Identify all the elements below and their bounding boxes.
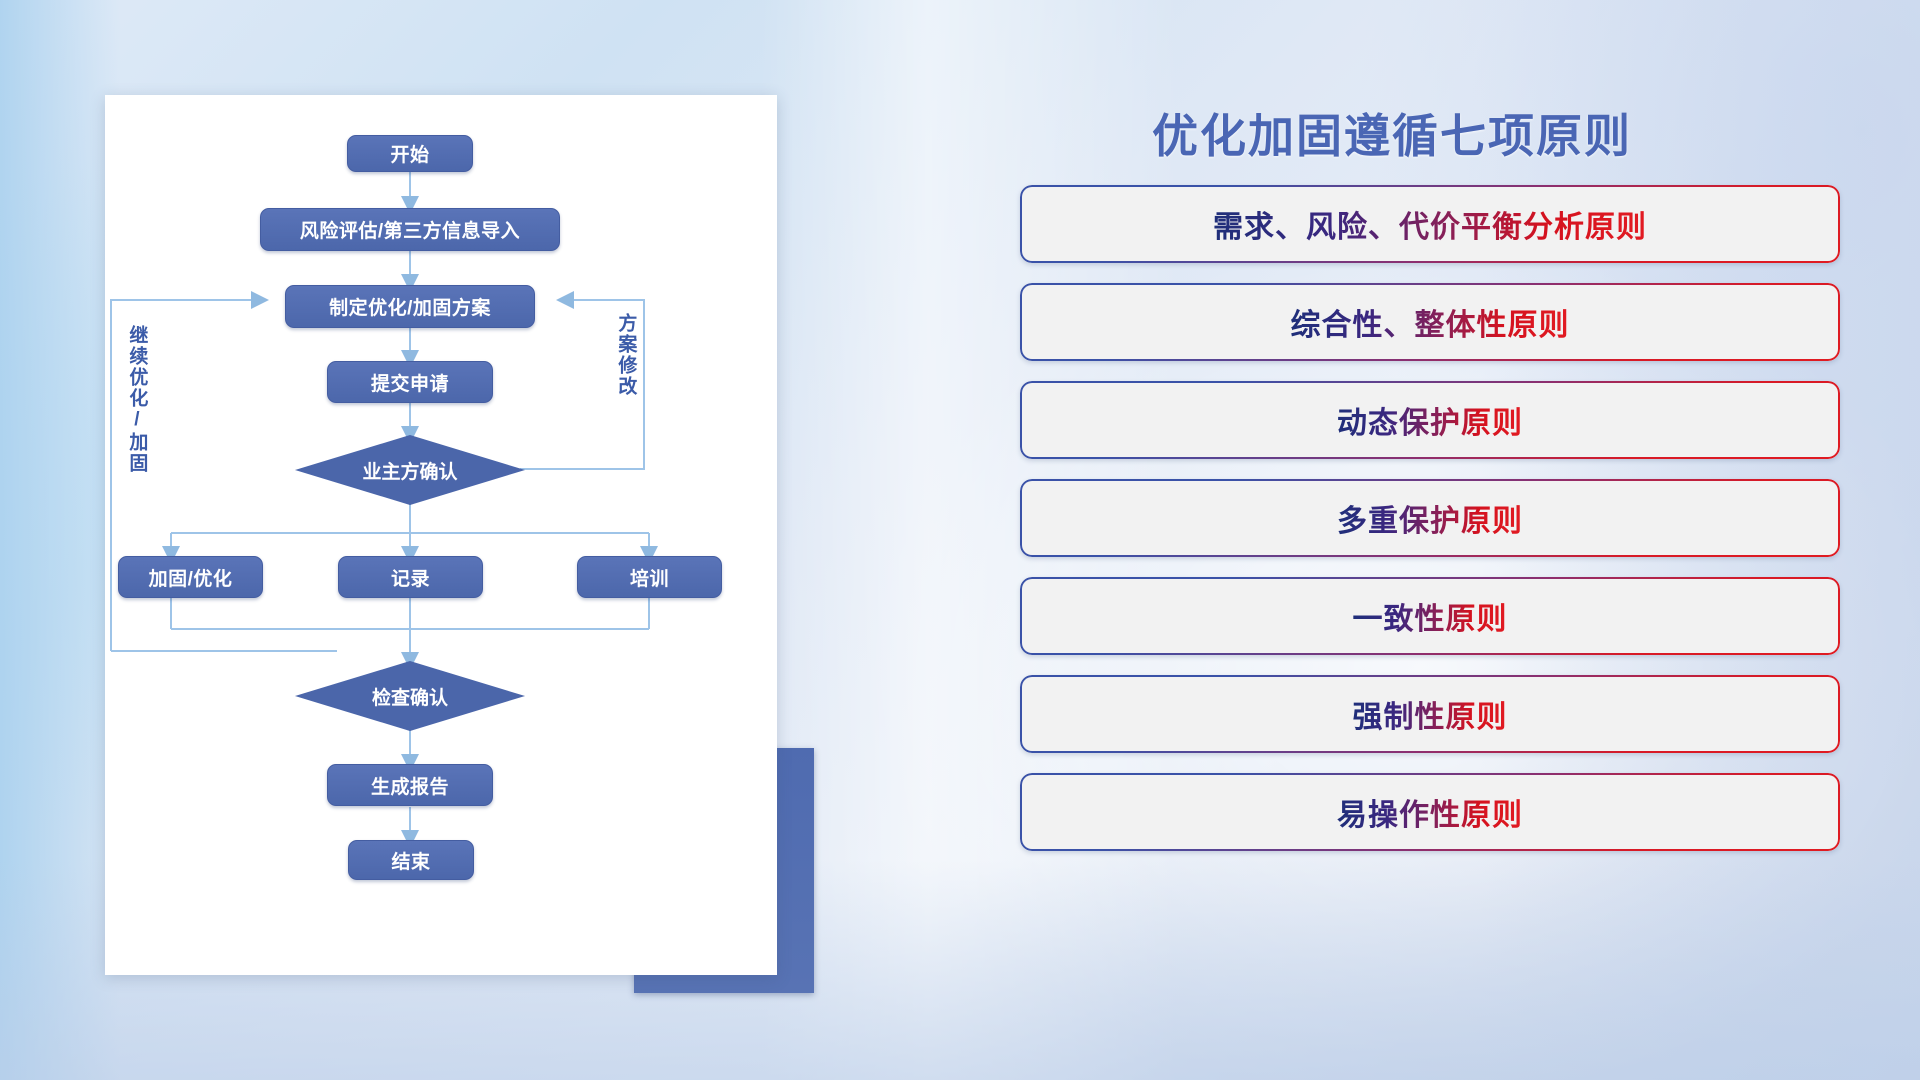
flow-node-label: 培训 bbox=[630, 564, 669, 591]
principle-item[interactable]: 动态保护原则 bbox=[1020, 381, 1840, 459]
flowchart-card: 开始 风险评估/第三方信息导入 制定优化/加固方案 提交申请 业主方确认 加固/… bbox=[105, 95, 777, 975]
principle-label: 强制性原则 bbox=[1353, 692, 1508, 736]
principle-item[interactable]: 多重保护原则 bbox=[1020, 479, 1840, 557]
page-title: 优化加固遵循七项原则 bbox=[1152, 100, 1632, 166]
flow-edge-label-plan-revision: 方案修改 bbox=[616, 313, 635, 397]
flow-edge-label-continue-optimize: 继续优化/加固 bbox=[127, 325, 146, 474]
flow-node-label: 风险评估/第三方信息导入 bbox=[300, 216, 520, 243]
flow-node-label: 加固/优化 bbox=[149, 564, 233, 591]
principle-item[interactable]: 需求、风险、代价平衡分析原则 bbox=[1020, 185, 1840, 263]
flow-node-training[interactable]: 培训 bbox=[577, 556, 722, 598]
principle-list: 需求、风险、代价平衡分析原则 综合性、整体性原则 动态保护原则 多重保护原则 一… bbox=[1020, 185, 1840, 871]
flow-node-label: 业主方确认 bbox=[362, 457, 457, 484]
flow-node-risk-assessment[interactable]: 风险评估/第三方信息导入 bbox=[260, 208, 560, 251]
flow-node-label: 制定优化/加固方案 bbox=[329, 293, 491, 320]
flow-node-record[interactable]: 记录 bbox=[338, 556, 483, 598]
flow-node-end[interactable]: 结束 bbox=[348, 840, 474, 880]
principle-item[interactable]: 易操作性原则 bbox=[1020, 773, 1840, 851]
principle-label: 一致性原则 bbox=[1353, 594, 1508, 638]
principle-label: 动态保护原则 bbox=[1337, 398, 1523, 442]
flow-node-plan[interactable]: 制定优化/加固方案 bbox=[285, 285, 535, 328]
flow-node-label: 记录 bbox=[391, 564, 430, 591]
flow-node-submit-application[interactable]: 提交申请 bbox=[327, 361, 493, 403]
principle-label: 易操作性原则 bbox=[1337, 790, 1523, 834]
principle-label: 多重保护原则 bbox=[1337, 496, 1523, 540]
principle-item[interactable]: 强制性原则 bbox=[1020, 675, 1840, 753]
flow-node-label: 结束 bbox=[391, 847, 430, 874]
flow-node-label: 检查确认 bbox=[372, 683, 448, 710]
background-streak-left bbox=[0, 0, 120, 1080]
principle-label: 综合性、整体性原则 bbox=[1291, 300, 1570, 344]
principles-panel: 优化加固遵循七项原则 需求、风险、代价平衡分析原则 综合性、整体性原则 动态保护… bbox=[1020, 90, 1840, 1020]
flow-node-start[interactable]: 开始 bbox=[347, 135, 473, 172]
principle-item[interactable]: 综合性、整体性原则 bbox=[1020, 283, 1840, 361]
principle-item[interactable]: 一致性原则 bbox=[1020, 577, 1840, 655]
flow-node-label: 开始 bbox=[390, 140, 429, 167]
flow-node-label: 提交申请 bbox=[371, 369, 449, 396]
flow-node-reinforce-optimize[interactable]: 加固/优化 bbox=[118, 556, 263, 598]
flow-node-generate-report[interactable]: 生成报告 bbox=[327, 764, 493, 806]
flow-node-label: 生成报告 bbox=[371, 772, 449, 799]
principle-label: 需求、风险、代价平衡分析原则 bbox=[1213, 202, 1647, 246]
